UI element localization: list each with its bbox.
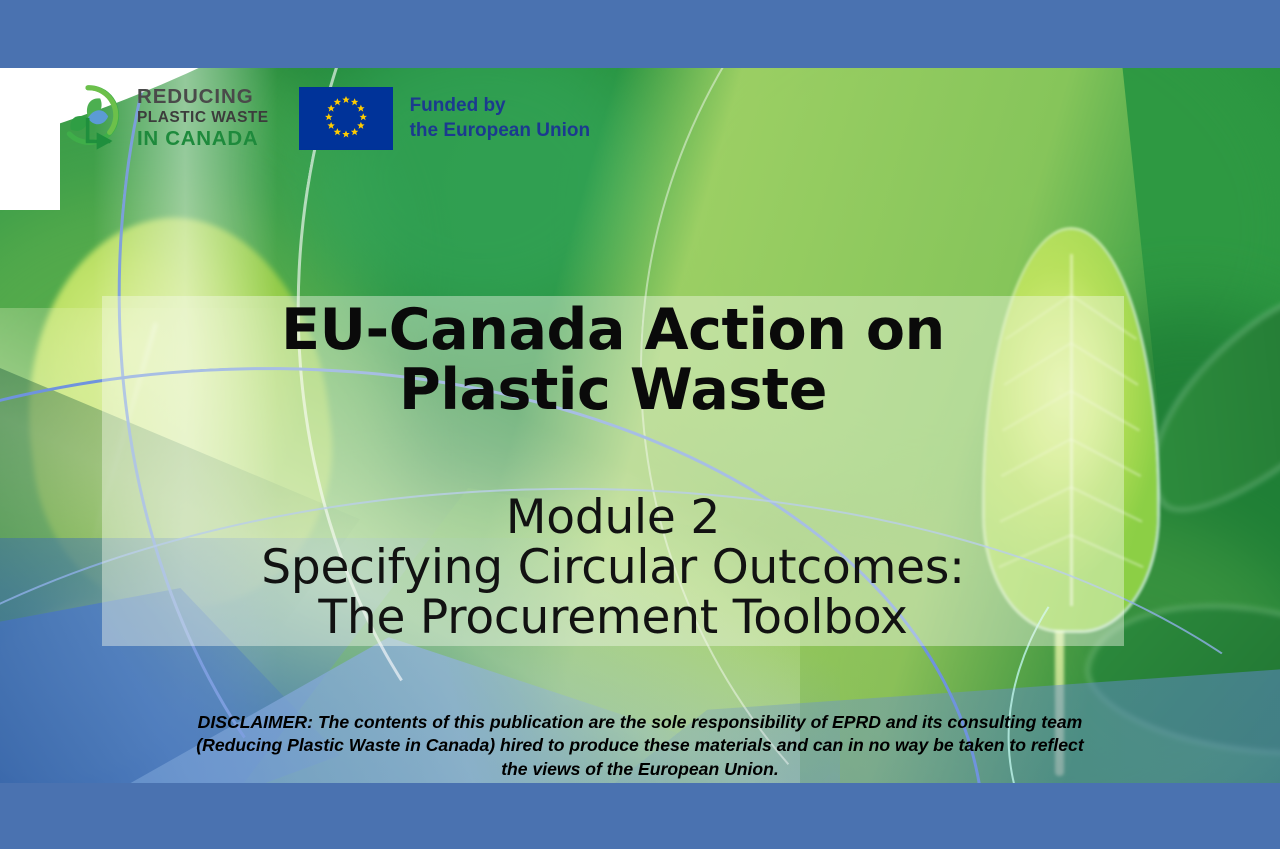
page-subtitle: Module 2 Specifying Circular Outcomes: T… <box>102 421 1124 644</box>
title-block: EU-Canada Action on Plastic Waste Module… <box>102 296 1124 644</box>
main-title-line-2: Plastic Waste <box>399 357 827 423</box>
eu-funding-line-2: the European Union <box>410 118 591 143</box>
bottom-blue-band <box>0 783 1280 849</box>
subtitle-line-1: Module 2 <box>506 490 720 545</box>
subtitle-line-3: The Procurement Toolbox <box>318 590 907 645</box>
european-union-flag-icon <box>299 87 393 150</box>
rpwc-logo: REDUCING PLASTIC WASTE IN CANADA <box>52 82 269 154</box>
branding-row: REDUCING PLASTIC WASTE IN CANADA <box>52 82 590 154</box>
top-blue-band <box>0 0 1280 68</box>
page-title: EU-Canada Action on Plastic Waste <box>102 296 1124 421</box>
disclaimer-line-1: DISCLAIMER: The contents of this publica… <box>198 712 943 732</box>
eu-funding-emblem: Funded by the European Union <box>299 87 591 150</box>
main-title-line-1: EU-Canada Action on <box>281 297 945 363</box>
rpwc-logo-wordmark: REDUCING PLASTIC WASTE IN CANADA <box>137 87 269 150</box>
recycling-leaf-circle-logo-icon <box>52 82 124 154</box>
rpwc-logo-line-3: IN CANADA <box>137 129 269 150</box>
eu-funding-text: Funded by the European Union <box>410 93 591 143</box>
title-slide: EU-Canada Action on Plastic Waste Module… <box>0 0 1280 849</box>
subtitle-line-2: Specifying Circular Outcomes: <box>261 540 965 595</box>
eu-funding-line-1: Funded by <box>410 93 591 118</box>
rpwc-logo-line-1: REDUCING <box>137 87 269 108</box>
rpwc-logo-line-2: PLASTIC WASTE <box>137 110 269 126</box>
disclaimer-text: DISCLAIMER: The contents of this publica… <box>190 711 1090 781</box>
